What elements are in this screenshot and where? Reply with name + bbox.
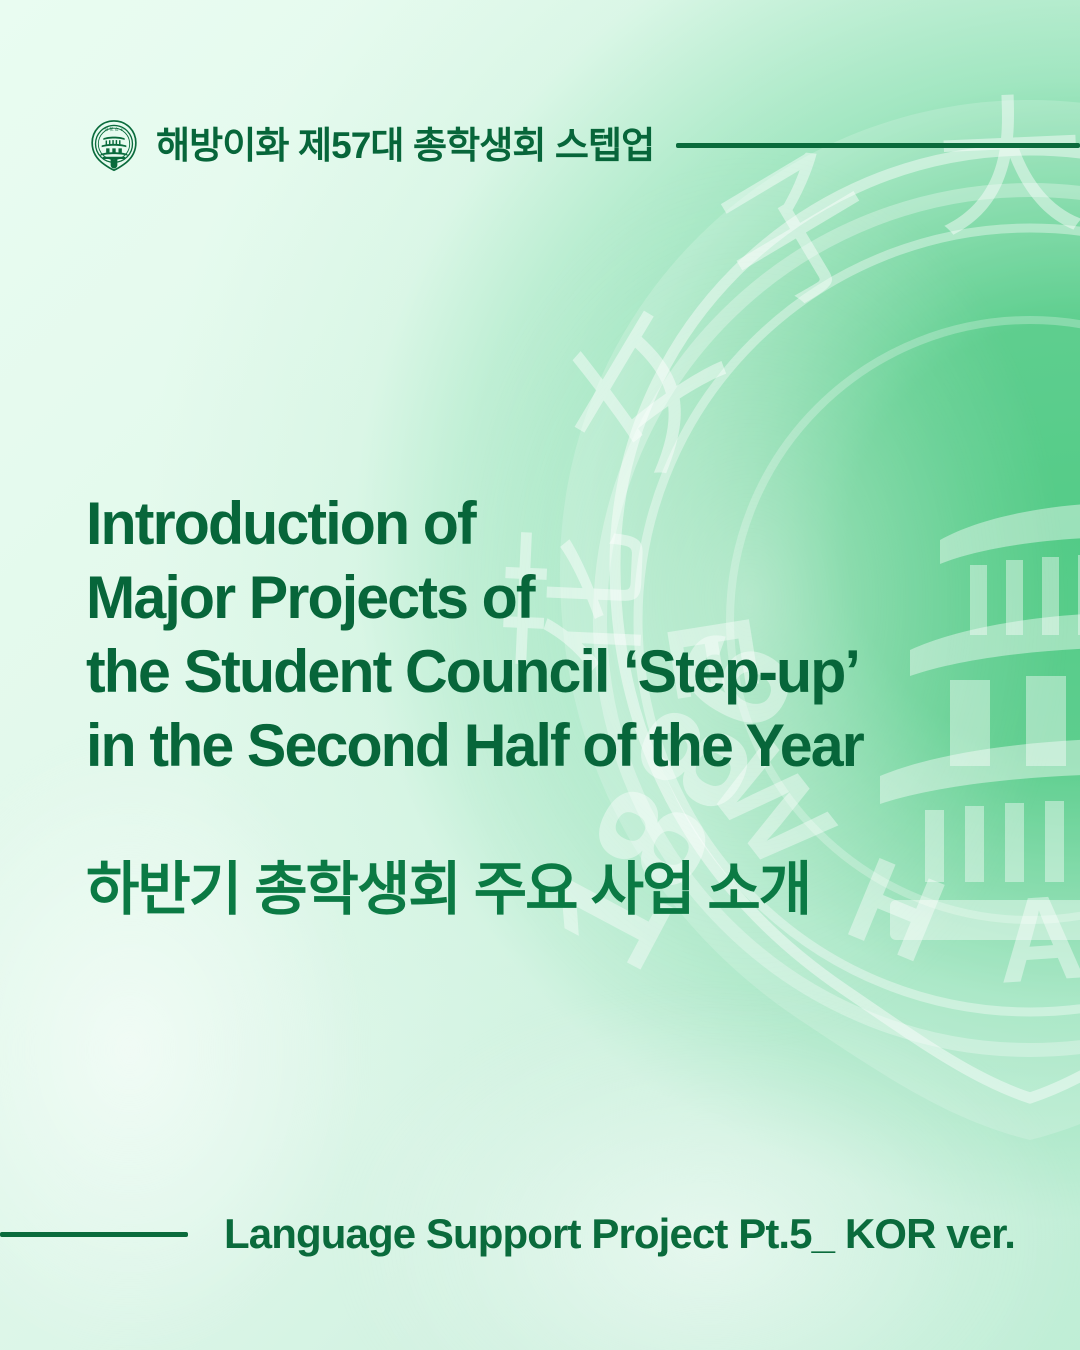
headline-line-1: Introduction of	[86, 487, 1046, 561]
headline-subtitle-korean: 하반기 총학생회 주요 사업 소개	[86, 858, 810, 922]
headline-block: Introduction of Major Projects of the St…	[86, 487, 1061, 783]
headline-line-2: Major Projects of	[86, 561, 1046, 635]
headline-line-4: in the Second Half of the Year	[86, 709, 1046, 783]
header-title: 해방이화 제57대 총학생회 스텝업	[156, 127, 654, 164]
ewha-emblem-icon: 梨 花 女 子	[86, 117, 142, 173]
footer-bar: Language Support Project Pt.5_ KOR ver.	[0, 1205, 1080, 1263]
poster-card: 梨 花 女 子 大 學 E W H A W. U. 1886 美	[0, 0, 1080, 1350]
header-bar: 梨 花 女 子 해방이화 제57대 총학생회 스텝업	[86, 113, 1080, 177]
footer-divider-rule	[0, 1232, 188, 1237]
footer-caption: Language Support Project Pt.5_ KOR ver.	[224, 1213, 1015, 1255]
svg-text:梨 花 女 子: 梨 花 女 子	[104, 126, 123, 131]
headline-line-3: the Student Council ‘Step-up’	[86, 635, 1046, 709]
background-blob-lower	[330, 980, 1080, 1350]
header-divider-rule	[676, 143, 1080, 148]
